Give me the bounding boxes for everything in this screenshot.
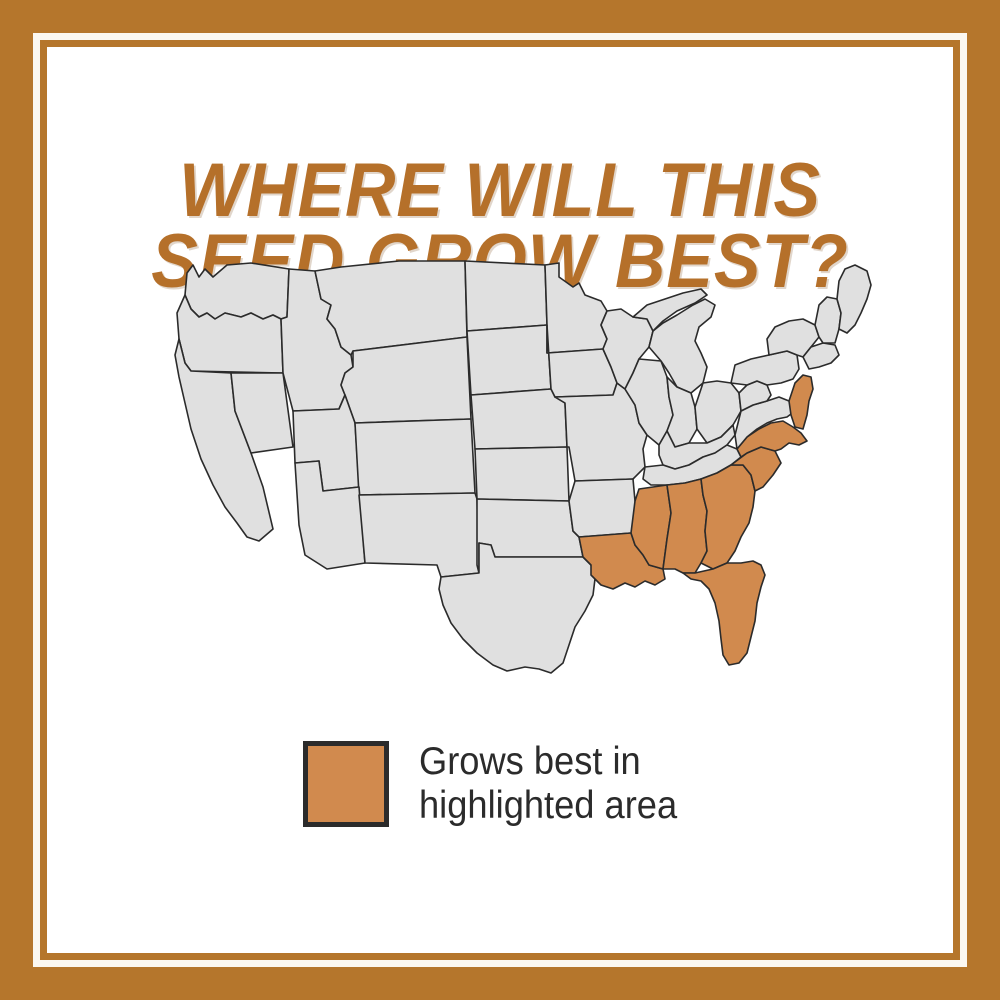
state-kansas[interactable]	[475, 447, 569, 501]
map-legend: Grows best in highlighted area	[47, 740, 953, 828]
state-maryland-delaware[interactable]	[789, 375, 813, 429]
state-south-dakota[interactable]	[467, 325, 551, 395]
state-florida[interactable]	[683, 561, 765, 665]
state-georgia[interactable]	[701, 465, 755, 569]
state-arkansas[interactable]	[569, 479, 639, 537]
state-colorado[interactable]	[355, 419, 475, 495]
state-maine[interactable]	[837, 265, 871, 333]
state-north-dakota[interactable]	[465, 261, 547, 331]
state-pennsylvania[interactable]	[731, 351, 799, 385]
state-new-mexico[interactable]	[359, 493, 479, 577]
states-layer	[175, 261, 871, 673]
us-map-svg	[155, 243, 895, 713]
us-map	[155, 243, 895, 713]
infographic-card: WHERE WILL THIS SEED GROW BEST?	[0, 0, 1000, 1000]
state-washington[interactable]	[185, 263, 289, 319]
legend-label: Grows best in highlighted area	[419, 740, 677, 828]
state-alabama[interactable]	[663, 479, 707, 573]
state-vermont-nh[interactable]	[815, 297, 841, 343]
state-wyoming[interactable]	[341, 337, 471, 423]
content-panel: WHERE WILL THIS SEED GROW BEST?	[47, 47, 953, 953]
legend-color-swatch	[303, 741, 389, 827]
state-minnesota[interactable]	[545, 263, 607, 353]
state-nebraska[interactable]	[471, 389, 567, 449]
